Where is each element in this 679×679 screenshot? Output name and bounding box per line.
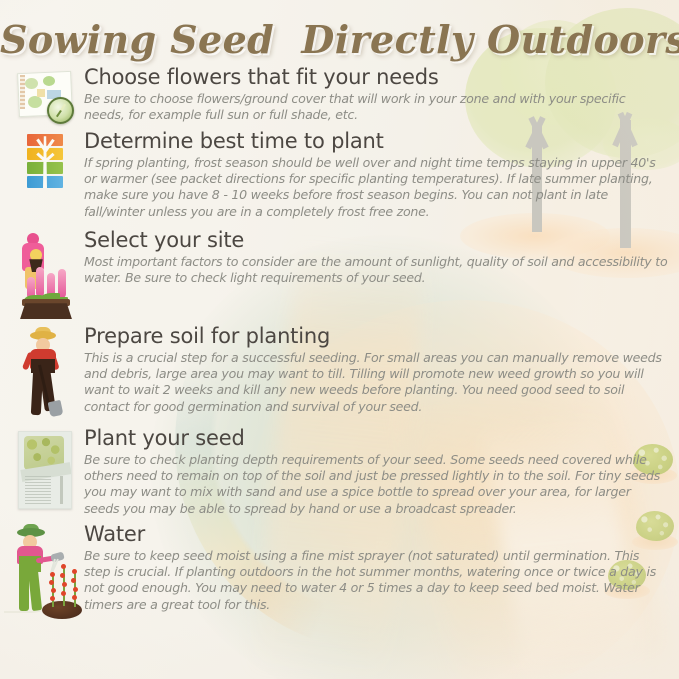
- step-body: Be sure to choose flowers/ground cover t…: [84, 91, 669, 124]
- page-title: Sowing Seed Directly Outdoors: [0, 17, 679, 62]
- step-item-prepare-soil: Prepare soil for planting This is a cruc…: [0, 325, 679, 419]
- step-heading: Determine best time to plant: [84, 130, 669, 154]
- step-item-choose-flowers: Choose flowers that fit your needs Be su…: [0, 66, 679, 123]
- step-icon-slot: [8, 130, 82, 190]
- step-text-block: Water Be sure to keep seed moist using a…: [82, 523, 669, 613]
- step-icon-slot: [8, 66, 82, 122]
- step-icon-slot: [8, 427, 82, 509]
- gardener-with-shovel-icon: [18, 329, 72, 419]
- step-heading: Water: [84, 523, 669, 547]
- step-item-plant-seed: Plant your seed Be sure to check plantin…: [0, 427, 679, 517]
- step-text-block: Choose flowers that fit your needs Be su…: [82, 66, 669, 123]
- four-seasons-tree-icon: [27, 134, 63, 190]
- step-body: Most important factors to consider are t…: [84, 254, 669, 287]
- infographic-poster: Sowing Seed Directly Outdoors Choose flo…: [0, 0, 679, 679]
- step-text-block: Select your site Most important factors …: [82, 229, 669, 286]
- step-icon-slot: [8, 325, 82, 419]
- step-text-block: Prepare soil for planting This is a cruc…: [82, 325, 669, 415]
- flower-planter-box-icon: [14, 233, 76, 319]
- step-item-select-site: Select your site Most important factors …: [0, 229, 679, 319]
- step-icon-slot: [8, 229, 82, 319]
- seed-packet-icon: [18, 431, 72, 509]
- step-heading: Prepare soil for planting: [84, 325, 669, 349]
- step-heading: Choose flowers that fit your needs: [84, 66, 669, 90]
- step-text-block: Plant your seed Be sure to check plantin…: [82, 427, 669, 517]
- step-heading: Select your site: [84, 229, 669, 253]
- step-item-determine-time: Determine best time to plant If spring p…: [0, 130, 679, 220]
- garden-plan-compass-icon: [17, 70, 73, 122]
- step-item-water: Water Be sure to keep seed moist using a…: [0, 523, 679, 619]
- step-text-block: Determine best time to plant If spring p…: [82, 130, 669, 220]
- steps-list: Choose flowers that fit your needs Be su…: [0, 66, 679, 619]
- step-heading: Plant your seed: [84, 427, 669, 451]
- gardener-watering-icon: [8, 527, 82, 619]
- step-body: If spring planting, frost season should …: [84, 155, 669, 220]
- step-icon-slot: [8, 523, 82, 619]
- step-body: Be sure to check planting depth requirem…: [84, 452, 669, 517]
- step-body: Be sure to keep seed moist using a fine …: [84, 548, 669, 613]
- step-body: This is a crucial step for a successful …: [84, 350, 669, 415]
